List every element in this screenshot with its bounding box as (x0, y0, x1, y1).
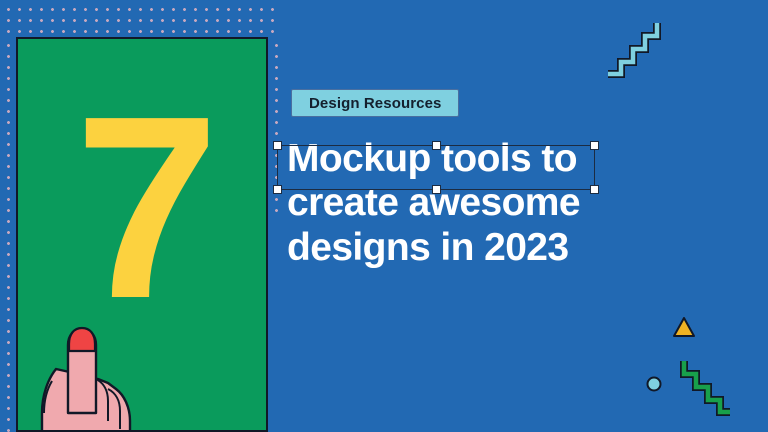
dot-pattern-top (0, 0, 282, 36)
slide-canvas: 7 Design Resources Mockup tools to creat… (0, 0, 768, 432)
headline-line-2: create awesome (287, 181, 717, 225)
numeral-seven: 7 (34, 89, 254, 328)
headline-text-block[interactable]: Mockup tools to create awesome designs i… (287, 137, 717, 270)
category-badge-label: Design Resources (309, 95, 441, 112)
zigzag-cyan-icon (604, 18, 666, 80)
circle-cyan-icon (645, 375, 663, 393)
headline-line-1: Mockup tools to (287, 137, 717, 181)
category-badge[interactable]: Design Resources (291, 89, 459, 117)
triangle-yellow-icon (672, 316, 696, 338)
green-panel[interactable]: 7 (16, 37, 268, 432)
zigzag-green-icon (678, 355, 736, 417)
dot-pattern-right-strip (268, 36, 282, 216)
headline-line-3: designs in 2023 (287, 226, 717, 270)
selection-handle-bottom-left[interactable] (273, 185, 282, 194)
dot-pattern-left (0, 36, 16, 432)
selection-handle-top-left[interactable] (273, 141, 282, 150)
pointing-hand-illustration (16, 317, 162, 432)
